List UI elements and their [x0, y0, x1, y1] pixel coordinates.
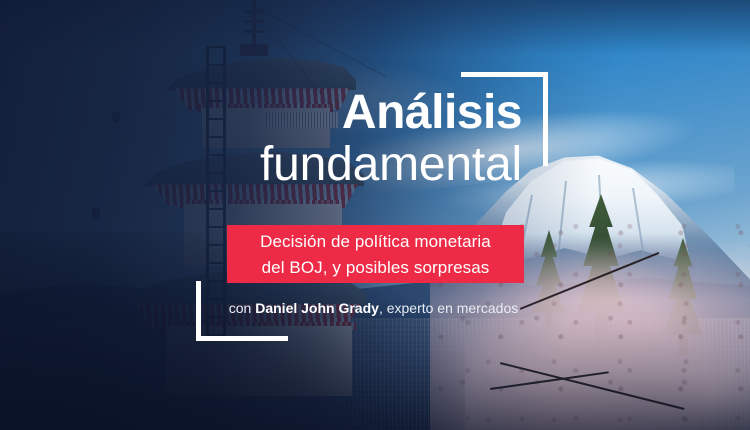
presentation-slide: Análisis fundamental Decisión de polític…	[0, 0, 750, 430]
topic-banner-line-1: Decisión de política monetaria	[260, 229, 491, 254]
topic-banner-line-2: del BOJ, y posibles sorpresas	[262, 255, 490, 280]
title-line-secondary: fundamental	[0, 138, 533, 192]
slide-content: Análisis fundamental Decisión de polític…	[0, 0, 750, 430]
corner-bracket-top-right-vertical	[543, 72, 548, 166]
corner-bracket-top-right-horizontal	[461, 72, 548, 77]
presenter-byline: con Daniel John Grady, experto en mercad…	[201, 298, 546, 318]
byline-prefix: con	[229, 300, 255, 316]
corner-bracket-bottom-left-horizontal	[196, 336, 288, 341]
topic-banner: Decisión de política monetaria del BOJ, …	[227, 225, 524, 283]
byline-suffix: , experto en mercados	[379, 300, 518, 316]
presenter-name: Daniel John Grady	[255, 300, 379, 316]
slide-title: Análisis fundamental	[0, 88, 533, 192]
title-line-primary: Análisis	[0, 88, 533, 138]
